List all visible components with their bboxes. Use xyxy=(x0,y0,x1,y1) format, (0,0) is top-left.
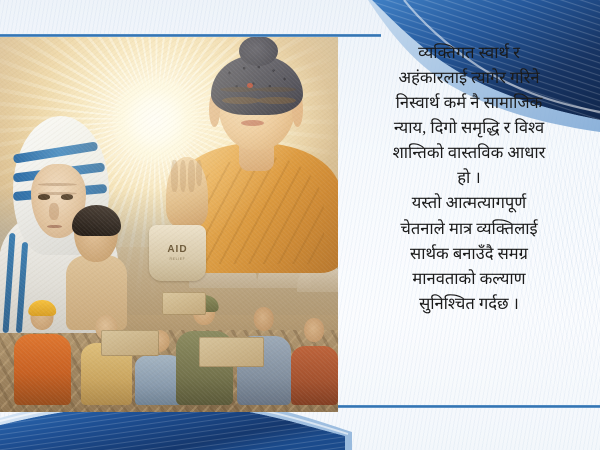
quote-text-panel: व्यक्तिगत स्वार्थ र अहंकारलाई त्यागेर गर… xyxy=(340,40,598,402)
quote-paragraph-2: यस्तो आत्मत्यागपूर्ण चेतनाले मात्र व्यक्… xyxy=(340,190,598,315)
compassion-illustration: AID RELIEF xyxy=(0,37,338,412)
bottom-divider-rule xyxy=(338,405,600,408)
quote-paragraph-1: व्यक्तिगत स्वार्थ र अहंकारलाई त्यागेर गर… xyxy=(340,40,598,190)
slide-canvas: AID RELIEF xyxy=(0,0,600,450)
illustration-paper-texture xyxy=(0,37,338,412)
